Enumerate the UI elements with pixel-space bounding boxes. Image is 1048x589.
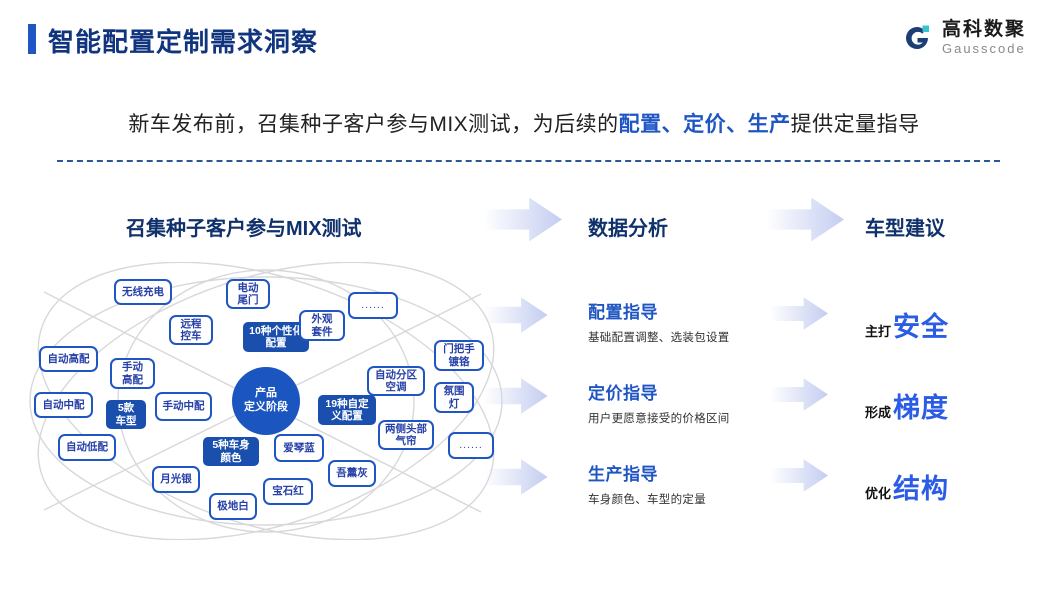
- mindmap-node-label: 镀铬: [449, 356, 470, 368]
- mindmap-node-label: 吾薰灰: [336, 467, 368, 479]
- mindmap-node-label: ......: [361, 299, 385, 311]
- title-accent-bar: [28, 24, 36, 54]
- mindmap-node-label: 尾门: [238, 294, 259, 306]
- mindmap-node-label: 颜色: [221, 452, 242, 464]
- mindmap-node-label: 手动: [122, 361, 143, 373]
- mindmap-node-label: 宝石红: [272, 485, 304, 497]
- mindmap-node-label: 自动低配: [66, 441, 108, 453]
- mindmap-node-label: 两侧头部: [385, 423, 427, 435]
- subtitle: 新车发布前，召集种子客户参与MIX测试，为后续的配置、定价、生产提供定量指导: [0, 108, 1048, 138]
- mindmap-node-label: 高配: [122, 374, 143, 386]
- mindmap-node-label: 自动中配: [43, 399, 85, 411]
- mindmap-node: 远程控车: [169, 315, 213, 345]
- process-arrow-icon: [484, 196, 562, 243]
- mindmap-node: 两侧头部气帘: [378, 420, 434, 450]
- mindmap-node-label: 灯: [449, 398, 460, 410]
- analysis-item-desc: 用户更愿意接受的价格区间: [588, 410, 730, 426]
- mindmap-node: 氛围灯: [434, 382, 474, 413]
- mindmap-node-label: 氛围: [444, 385, 465, 397]
- process-arrow-icon: [770, 377, 828, 412]
- page-title: 智能配置定制需求洞察: [48, 22, 318, 59]
- mindmap-diagram: 产品 定义阶段 无线充电电动尾门......远程控车10种个性化配置外观套件自动…: [26, 262, 506, 540]
- section-divider: [57, 160, 1000, 162]
- suggestion-item: 主打安全: [865, 305, 949, 344]
- analysis-item: 配置指导基础配置调整、选装包设置: [588, 298, 730, 345]
- mindmap-node: 极地白: [209, 493, 257, 520]
- mindmap-node-label: 无线充电: [122, 286, 164, 298]
- mindmap-node-label: 外观: [312, 313, 333, 325]
- center-line1: 产品: [255, 387, 277, 401]
- mindmap-node: 5种车身颜色: [203, 437, 259, 466]
- mindmap-node-label: 手动中配: [163, 400, 205, 412]
- mindmap-node-label: 电动: [238, 282, 259, 294]
- suggestion-keyword: 结构: [893, 467, 949, 506]
- mindmap-node: 自动分区空调: [367, 366, 425, 396]
- mindmap-node-label: 5种车身: [212, 439, 249, 451]
- brand-logo: 高科数聚 Gausscode: [900, 20, 1026, 55]
- mindmap-node: 自动中配: [34, 392, 93, 418]
- suggestion-prefix: 主打: [865, 321, 891, 340]
- mindmap-node: 19种自定义配置: [318, 395, 376, 425]
- center-line2: 定义阶段: [244, 401, 288, 415]
- mindmap-node-label: 5款: [118, 402, 134, 414]
- mindmap-node: 月光银: [152, 466, 200, 493]
- mindmap-node: 门把手镀铬: [434, 340, 484, 371]
- mindmap-node: 5款车型: [106, 400, 146, 429]
- analysis-item-title: 配置指导: [588, 298, 730, 323]
- slide-root: 智能配置定制需求洞察 高科数聚 Gausscode 新车发布前，召集种子客户参与…: [0, 0, 1048, 589]
- mindmap-center-node: 产品 定义阶段: [232, 367, 300, 435]
- mindmap-node: 无线充电: [114, 279, 172, 305]
- analysis-item: 生产指导车身颜色、车型的定量: [588, 460, 706, 507]
- logo-text-en: Gausscode: [942, 42, 1026, 55]
- suggestion-keyword: 安全: [893, 305, 949, 344]
- mindmap-node-label: 自动分区: [375, 369, 417, 381]
- analysis-item-title: 生产指导: [588, 460, 706, 485]
- mindmap-node-label: 控车: [181, 330, 202, 342]
- suggestion-prefix: 形成: [865, 402, 891, 421]
- mindmap-node: 爱琴蓝: [274, 434, 324, 462]
- mindmap-node: 手动中配: [155, 392, 212, 421]
- subtitle-highlight: 配置、定价、生产: [619, 113, 791, 136]
- gausscode-g-mark-icon: [900, 21, 934, 55]
- mindmap-node-label: 爱琴蓝: [283, 442, 315, 454]
- mindmap-node-label: 远程: [181, 318, 202, 330]
- column-header-analysis: 数据分析: [588, 212, 668, 241]
- mindmap-node: 外观套件: [299, 310, 345, 341]
- mindmap-node: 吾薰灰: [328, 460, 376, 487]
- mindmap-node-label: 空调: [386, 381, 407, 393]
- mindmap-node-label: 月光银: [160, 473, 192, 485]
- process-arrow-icon: [770, 458, 828, 493]
- mindmap-node-label: 义配置: [331, 410, 363, 422]
- mindmap-node: 手动高配: [110, 358, 155, 389]
- mindmap-node: 宝石红: [263, 478, 313, 505]
- mindmap-node-label: 自动高配: [48, 353, 90, 365]
- column-header-collect: 召集种子客户参与MIX测试: [126, 212, 362, 241]
- column-header-suggestion: 车型建议: [865, 212, 945, 241]
- analysis-item-desc: 基础配置调整、选装包设置: [588, 329, 730, 345]
- suggestion-keyword: 梯度: [893, 386, 949, 425]
- analysis-item-title: 定价指导: [588, 379, 730, 404]
- subtitle-part2: 提供定量指导: [791, 113, 920, 136]
- suggestion-prefix: 优化: [865, 483, 891, 502]
- mindmap-node-label: 10种个性化: [249, 325, 303, 337]
- mindmap-node-label: 气帘: [396, 435, 417, 447]
- mindmap-node: ......: [448, 432, 494, 459]
- mindmap-node-label: ......: [459, 439, 483, 451]
- analysis-item: 定价指导用户更愿意接受的价格区间: [588, 379, 730, 426]
- mindmap-node-label: 19种自定: [325, 398, 368, 410]
- mindmap-node-label: 门把手: [443, 343, 475, 355]
- mindmap-node-label: 车型: [116, 415, 137, 427]
- mindmap-node: 电动尾门: [226, 279, 270, 309]
- logo-text-cn: 高科数聚: [942, 20, 1026, 39]
- mindmap-node-label: 套件: [312, 326, 333, 338]
- analysis-item-desc: 车身颜色、车型的定量: [588, 491, 706, 507]
- subtitle-part1: 新车发布前，召集种子客户参与MIX测试，为后续的: [128, 113, 618, 136]
- process-arrow-icon: [766, 196, 844, 243]
- mindmap-node: ......: [348, 292, 398, 319]
- mindmap-node-label: 配置: [266, 337, 287, 349]
- suggestion-item: 优化结构: [865, 467, 949, 506]
- process-arrow-icon: [770, 296, 828, 331]
- mindmap-node: 自动高配: [39, 346, 98, 372]
- suggestion-item: 形成梯度: [865, 386, 949, 425]
- mindmap-node-label: 极地白: [217, 500, 249, 512]
- mindmap-node: 自动低配: [58, 434, 116, 461]
